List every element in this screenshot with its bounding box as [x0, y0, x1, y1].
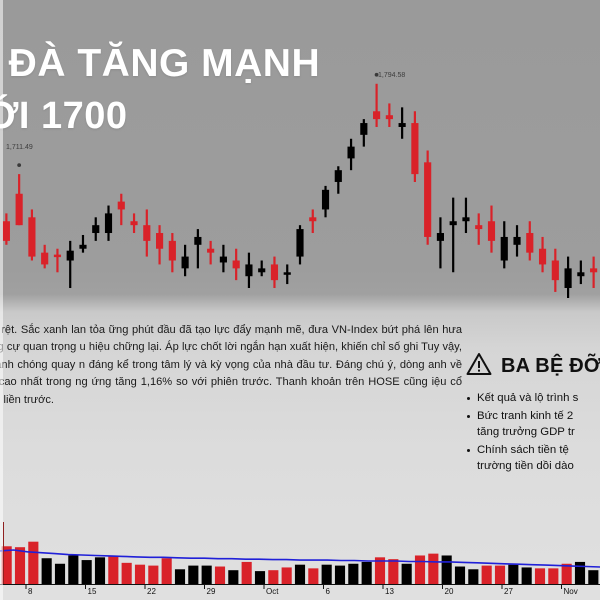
candlestick — [284, 264, 291, 284]
volume-bar — [228, 570, 238, 584]
candlestick — [130, 213, 137, 233]
volume-bar — [122, 563, 132, 584]
volume-bar — [442, 555, 452, 584]
volume-bar — [282, 567, 292, 584]
volume-bar — [15, 547, 25, 584]
volume-axis-tick-label: 20 — [445, 587, 454, 596]
price-label-low: 1,711.49 — [6, 144, 33, 151]
volume-axis-tick-label: 13 — [385, 587, 394, 596]
candlestick — [450, 198, 457, 273]
candlestick — [424, 151, 431, 245]
callout-bullet-item: Chính sách tiền tệtrường tiền dồi dào — [466, 442, 600, 475]
volume-bar — [68, 555, 78, 584]
volume-chart: 8152229Oct6132027Nov — [0, 522, 600, 600]
candlestick — [488, 206, 495, 253]
volume-bar — [402, 564, 412, 584]
callout-bullet-text: Kết quả và lộ trình s — [477, 392, 578, 404]
candlestick — [501, 221, 508, 268]
callout-bullet-list: Kết quả và lộ trình sBức tranh kinh tế 2… — [466, 390, 600, 475]
volume-bar — [242, 562, 252, 584]
candlestick — [79, 235, 86, 253]
candlestick — [475, 213, 482, 244]
candlestick — [207, 241, 214, 265]
candlestick — [399, 107, 406, 138]
candlestick — [462, 198, 469, 233]
volume-bar — [522, 567, 532, 584]
candlestick — [590, 257, 597, 288]
candlestick — [322, 186, 329, 217]
low-marker-dot — [17, 163, 21, 167]
candlestick — [565, 257, 572, 298]
candlestick — [360, 119, 367, 146]
callout-header: BA BỆ ĐỠ C — [466, 352, 600, 381]
volume-bar — [428, 554, 438, 584]
headline: Ì ĐÀ TĂNG MẠNH ỚI 1700 — [0, 44, 320, 137]
volume-bar — [588, 570, 598, 584]
candlestick — [386, 103, 393, 127]
volume-bar — [455, 567, 465, 584]
volume-bar — [388, 559, 398, 584]
candlestick — [552, 249, 559, 292]
volume-bar — [95, 557, 105, 584]
candlestick — [118, 194, 125, 225]
volume-bar — [575, 562, 585, 584]
callout-bullet-item: Bức tranh kinh tế 2tăng trưởng GDP tr — [466, 408, 600, 441]
candlestick — [67, 241, 74, 288]
volume-axis-tick-label: 27 — [504, 587, 513, 596]
volume-bar — [482, 566, 492, 584]
callout-title: BA BỆ ĐỠ C — [501, 355, 600, 378]
candlestick — [3, 213, 10, 244]
candlestick — [169, 233, 176, 272]
volume-axis-tick-label: Nov — [564, 587, 578, 596]
candlestick — [577, 261, 584, 285]
volume-bar — [348, 564, 358, 584]
article-paragraph: ới với tin hiệu tích cực, duy trì đà hồi… — [0, 322, 462, 409]
candlestick — [156, 225, 163, 264]
headline-line-2: ỚI 1700 — [0, 97, 320, 137]
volume-bar — [82, 560, 92, 584]
candlestick — [437, 217, 444, 268]
candlestick — [411, 111, 418, 182]
volume-bar — [175, 569, 185, 584]
candlestick — [220, 245, 227, 272]
candlestick — [271, 257, 278, 288]
candlestick — [347, 139, 354, 170]
volume-bar — [108, 555, 118, 584]
volume-bar — [268, 570, 278, 584]
volume-bar — [295, 565, 305, 584]
volume-bar — [415, 555, 425, 584]
volume-bar — [202, 566, 212, 584]
candlestick — [41, 245, 48, 269]
headline-line-1: Ì ĐÀ TĂNG MẠNH — [0, 44, 320, 85]
candlestick — [28, 209, 35, 260]
volume-axis-tick-label: Oct — [266, 587, 278, 596]
volume-bar — [135, 565, 145, 584]
volume-bar — [148, 566, 158, 584]
callout-bullet-text: Bức tranh kinh tế 2 — [477, 410, 573, 422]
candlestick — [539, 237, 546, 272]
volume-axis-tick-label: 29 — [207, 587, 216, 596]
volume-axis-tick-label: 6 — [326, 587, 330, 596]
volume-bar — [362, 562, 372, 584]
callout-bullet-continuation: tăng trưởng GDP tr — [477, 424, 600, 441]
candlestick — [526, 221, 533, 260]
volume-bar — [28, 542, 38, 584]
candlestick — [92, 217, 99, 241]
article-body: ới với tin hiệu tích cực, duy trì đà hồi… — [0, 322, 462, 409]
candlestick — [105, 206, 112, 241]
candlestick — [309, 209, 316, 233]
volume-axis-tick-label: 15 — [88, 587, 97, 596]
candlestick — [296, 225, 303, 264]
warning-triangle-icon — [466, 352, 492, 381]
volume-bar — [255, 571, 265, 584]
volume-bar — [535, 568, 545, 584]
candlestick — [143, 209, 150, 256]
volume-bar — [548, 568, 558, 584]
volume-bar — [495, 566, 505, 584]
volume-axis-tick-label: 8 — [28, 587, 32, 596]
volume-bar — [215, 567, 225, 584]
volume-bar — [42, 558, 52, 584]
volume-bar — [188, 566, 198, 584]
candlestick — [16, 174, 23, 225]
callout-bullet-item: Kết quả và lộ trình s — [466, 390, 600, 407]
volume-axis-tick-label: 22 — [147, 587, 156, 596]
price-label-high: 1,794.58 — [378, 72, 405, 79]
candlestick — [373, 84, 380, 127]
candlestick — [335, 166, 342, 193]
candlestick — [233, 249, 240, 280]
volume-bar — [162, 558, 172, 584]
volume-bar — [335, 566, 345, 584]
volume-bar — [322, 565, 332, 584]
candlestick — [54, 249, 61, 273]
candlestick — [513, 225, 520, 256]
candlestick — [194, 229, 201, 268]
callout-panel: BA BỆ ĐỠ C Kết quả và lộ trình sBức tran… — [466, 352, 600, 476]
poster-canvas: 1,794.58 1,711.49 Ì ĐÀ TĂNG MẠNH ỚI 1700… — [0, 0, 600, 600]
callout-bullet-continuation: trường tiền dồi dào — [477, 458, 600, 475]
left-edge-highlight — [0, 0, 3, 600]
candlestick — [245, 253, 252, 288]
volume-bar — [468, 569, 478, 584]
candlestick — [258, 261, 265, 277]
volume-bar — [55, 564, 65, 584]
callout-bullet-text: Chính sách tiền tệ — [477, 444, 569, 456]
candlestick — [182, 245, 189, 276]
volume-bar — [308, 568, 318, 584]
volume-bar — [508, 565, 518, 584]
